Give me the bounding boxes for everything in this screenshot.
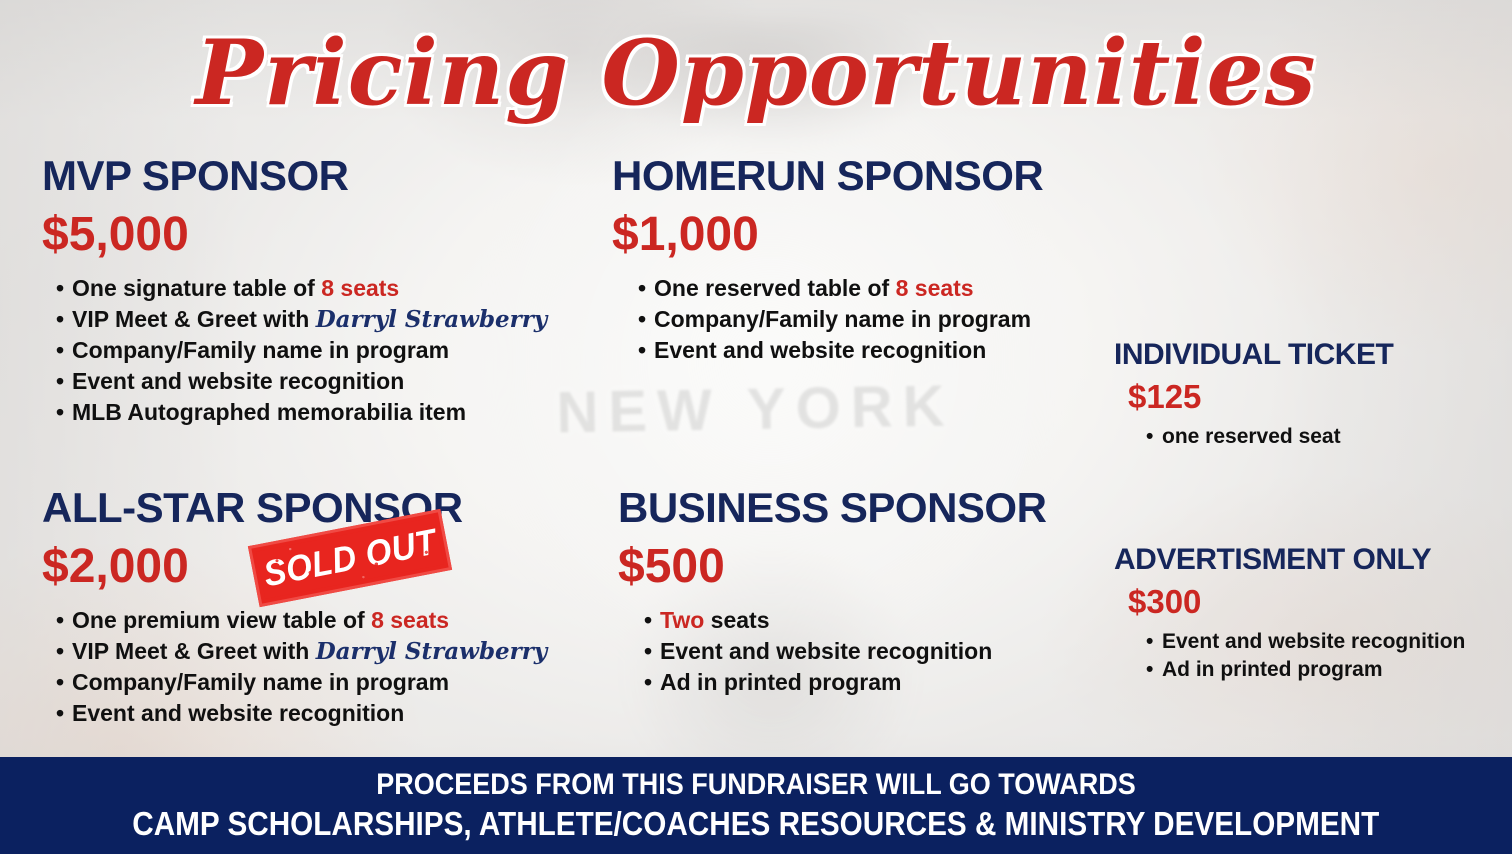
benefit-text: Event and website recognition xyxy=(72,368,404,394)
tier-benefit-item: MLB Autographed memorabilia item xyxy=(72,397,547,428)
tier-benefit-item: Ad in printed program xyxy=(1162,656,1465,684)
tier-block-homerun: HOMERUN SPONSOR $1,000 One reserved tabl… xyxy=(612,155,1043,366)
tier-price-business: $500 xyxy=(618,543,1046,591)
benefit-text: seats xyxy=(704,607,769,633)
tier-block-advertisment-only: ADVERTISMENT ONLY $300 Event and website… xyxy=(1114,545,1465,684)
benefit-text: Event and website recognition xyxy=(72,700,404,726)
tier-benefit-item: one reserved seat xyxy=(1162,423,1393,451)
tier-heading-individual-ticket: INDIVIDUAL TICKET xyxy=(1114,340,1393,370)
benefit-highlight: Two xyxy=(660,607,704,633)
benefit-person-name: Darryl Strawberry xyxy=(316,306,548,333)
benefit-text: Event and website recognition xyxy=(1162,630,1465,653)
tier-heading-business: BUSINESS SPONSOR xyxy=(618,487,1046,529)
benefit-text: one reserved seat xyxy=(1162,425,1341,448)
tier-price-homerun: $1,000 xyxy=(612,211,1043,259)
benefit-text: One signature table of xyxy=(72,275,321,301)
tier-price-mvp: $5,000 xyxy=(42,211,547,259)
benefit-text: Event and website recognition xyxy=(660,638,992,664)
tier-heading-advertisment-only: ADVERTISMENT ONLY xyxy=(1114,545,1465,575)
tier-benefit-item: Company/Family name in program xyxy=(654,304,1043,335)
benefit-text: One reserved table of xyxy=(654,275,896,301)
tier-benefit-item: VIP Meet & Greet with Darryl Strawberry xyxy=(72,304,547,335)
tier-benefits-business: Two seatsEvent and website recognitionAd… xyxy=(660,605,1046,698)
benefit-text: VIP Meet & Greet with xyxy=(72,638,316,664)
footer-line-1: PROCEEDS FROM THIS FUNDRAISER WILL GO TO… xyxy=(376,769,1136,801)
benefit-person-name: Darryl Strawberry xyxy=(316,638,548,665)
pricing-opportunities-poster: NEW YORK Pricing Opportunities MVP SPONS… xyxy=(0,0,1512,854)
benefit-text: Event and website recognition xyxy=(654,337,986,363)
tier-heading-homerun: HOMERUN SPONSOR xyxy=(612,155,1043,197)
tier-heading-mvp: MVP SPONSOR xyxy=(42,155,547,197)
benefit-text: One premium view table of xyxy=(72,607,371,633)
tier-benefits-advertisment-only: Event and website recognitionAd in print… xyxy=(1162,628,1465,684)
benefit-text: MLB Autographed memorabilia item xyxy=(72,399,466,425)
tier-benefits-individual-ticket: one reserved seat xyxy=(1162,423,1393,451)
tier-benefits-all-star: One premium view table of 8 seatsVIP Mee… xyxy=(72,605,547,729)
tier-heading-all-star: ALL-STAR SPONSOR xyxy=(42,487,547,529)
tier-benefit-item: Ad in printed program xyxy=(660,667,1046,698)
benefit-highlight: 8 seats xyxy=(896,275,974,301)
benefit-highlight: 8 seats xyxy=(371,607,449,633)
tier-benefit-item: Event and website recognition xyxy=(72,366,547,397)
tier-block-business: BUSINESS SPONSOR $500 Two seatsEvent and… xyxy=(618,487,1046,698)
tier-benefit-item: One signature table of 8 seats xyxy=(72,273,547,304)
benefit-highlight: 8 seats xyxy=(321,275,399,301)
tier-benefit-item: One reserved table of 8 seats xyxy=(654,273,1043,304)
page-title: Pricing Opportunities xyxy=(0,26,1512,121)
tier-benefit-item: Event and website recognition xyxy=(72,698,547,729)
tier-benefit-item: Company/Family name in program xyxy=(72,667,547,698)
benefit-text: VIP Meet & Greet with xyxy=(72,306,316,332)
tier-benefit-item: Company/Family name in program xyxy=(72,335,547,366)
tier-benefit-item: VIP Meet & Greet with Darryl Strawberry xyxy=(72,636,547,667)
footer-banner: PROCEEDS FROM THIS FUNDRAISER WILL GO TO… xyxy=(0,757,1512,854)
tier-benefits-mvp: One signature table of 8 seatsVIP Meet &… xyxy=(72,273,547,428)
tier-benefit-item: One premium view table of 8 seats xyxy=(72,605,547,636)
tier-benefit-item: Event and website recognition xyxy=(660,636,1046,667)
benefit-text: Company/Family name in program xyxy=(654,306,1031,332)
tier-benefit-item: Event and website recognition xyxy=(1162,628,1465,656)
tier-price-individual-ticket: $125 xyxy=(1128,380,1393,413)
tier-benefit-item: Two seats xyxy=(660,605,1046,636)
tier-price-advertisment-only: $300 xyxy=(1128,585,1465,618)
benefit-text: Company/Family name in program xyxy=(72,669,449,695)
tier-benefits-homerun: One reserved table of 8 seatsCompany/Fam… xyxy=(654,273,1043,366)
tier-block-mvp: MVP SPONSOR $5,000 One signature table o… xyxy=(42,155,547,428)
tier-block-individual-ticket: INDIVIDUAL TICKET $125 one reserved seat xyxy=(1114,340,1393,451)
footer-line-2: CAMP SCHOLARSHIPS, ATHLETE/COACHES RESOU… xyxy=(133,806,1380,842)
benefit-text: Ad in printed program xyxy=(660,669,902,695)
tier-benefit-item: Event and website recognition xyxy=(654,335,1043,366)
benefit-text: Ad in printed program xyxy=(1162,658,1383,681)
tier-block-all-star: ALL-STAR SPONSOR $2,000 One premium view… xyxy=(42,487,547,729)
benefit-text: Company/Family name in program xyxy=(72,337,449,363)
